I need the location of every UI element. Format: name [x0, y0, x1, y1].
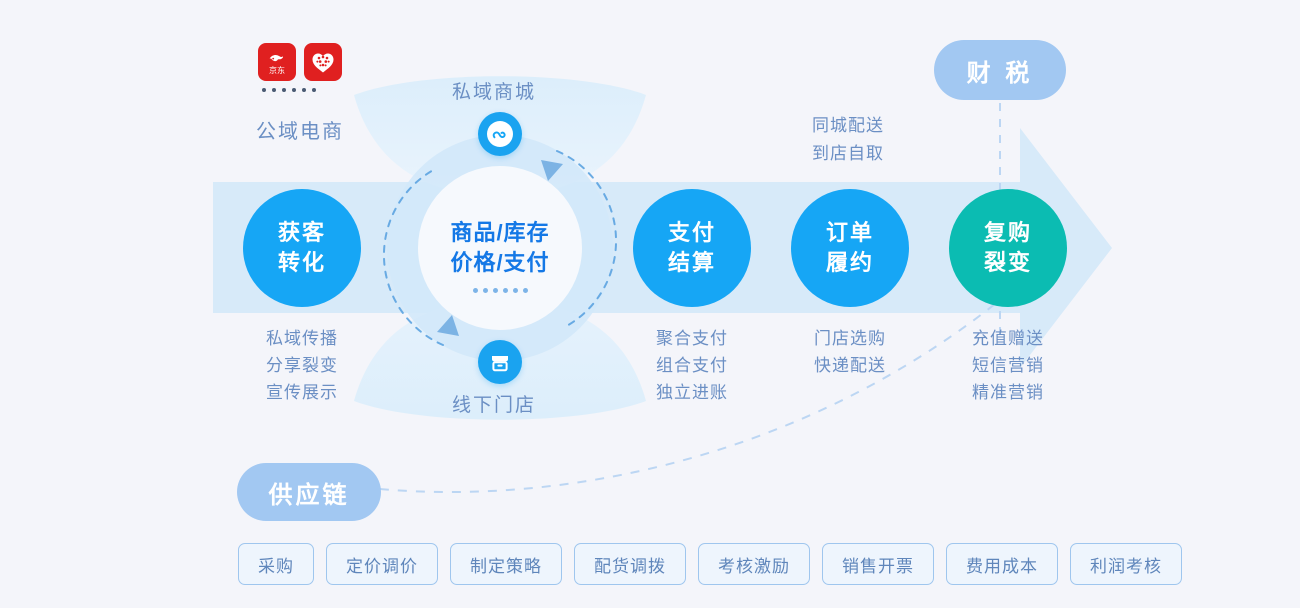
public-channel-title: 公域电商	[256, 115, 344, 144]
stage-node-payment[interactable]: 支付 结算	[633, 189, 751, 307]
hub-line-1: 商品/库存	[420, 218, 580, 248]
stage-acquisition-line-1: 获客	[278, 218, 326, 248]
chip-sales-invoice[interactable]: 销售开票	[822, 543, 934, 585]
chip-expense-cost[interactable]: 费用成本	[946, 543, 1058, 585]
stage-node-fulfilment[interactable]: 订单 履约	[791, 189, 909, 307]
pinduoduo-logo	[304, 43, 342, 81]
svg-text:京东: 京东	[269, 65, 285, 75]
public-channel-more-dots	[262, 88, 316, 92]
chip-profit-review[interactable]: 利润考核	[1070, 543, 1182, 585]
list-item: 充值赠送	[928, 325, 1088, 352]
background-graphics	[0, 0, 1300, 608]
pill-supply-chain[interactable]: 供应链	[237, 463, 381, 521]
delivery-note-line-1: 同城配送	[812, 112, 884, 140]
offline-channel-title: 线下门店	[452, 390, 536, 417]
stage-acquisition-items: 私域传播 分享裂变 宣传展示	[222, 325, 382, 406]
chip-procurement[interactable]: 采购	[238, 543, 314, 585]
list-item: 私域传播	[222, 325, 382, 352]
list-item: 门店选购	[770, 325, 930, 352]
storefront-icon	[478, 340, 522, 384]
stage-fulfilment-items: 门店选购 快递配送	[770, 325, 930, 379]
pill-finance[interactable]: 财 税	[934, 40, 1066, 100]
stage-repurchase-line-1: 复购	[984, 218, 1032, 248]
chip-allocation[interactable]: 配货调拨	[574, 543, 686, 585]
public-channel-logos: 京东	[258, 43, 342, 81]
stage-repurchase-line-2: 裂变	[984, 248, 1032, 278]
stage-fulfilment-line-1: 订单	[826, 218, 874, 248]
list-item: 独立进账	[612, 379, 772, 406]
list-item: 组合支付	[612, 352, 772, 379]
stage-repurchase-items: 充值赠送 短信营销 精准营销	[928, 325, 1088, 406]
wechat-miniprogram-icon	[478, 112, 522, 156]
stage-fulfilment-line-2: 履约	[826, 248, 874, 278]
list-item: 精准营销	[928, 379, 1088, 406]
stage-node-repurchase[interactable]: 复购 裂变	[949, 189, 1067, 307]
stage-node-acquisition[interactable]: 获客 转化	[243, 189, 361, 307]
jd-logo: 京东	[258, 43, 296, 81]
list-item: 快递配送	[770, 352, 930, 379]
list-item: 分享裂变	[222, 352, 382, 379]
hub-line-2: 价格/支付	[420, 248, 580, 278]
stage-payment-line-2: 结算	[668, 248, 716, 278]
chip-pricing[interactable]: 定价调价	[326, 543, 438, 585]
stage-acquisition-line-2: 转化	[278, 248, 326, 278]
hub-center-label: 商品/库存 价格/支付	[420, 218, 580, 293]
list-item: 宣传展示	[222, 379, 382, 406]
delivery-note-line-2: 到店自取	[812, 140, 884, 168]
delivery-note: 同城配送 到店自取	[812, 112, 884, 168]
list-item: 聚合支付	[612, 325, 772, 352]
stage-payment-items: 聚合支付 组合支付 独立进账	[612, 325, 772, 406]
chip-strategy[interactable]: 制定策略	[450, 543, 562, 585]
diagram-canvas: 京东 公域电商 私域商城	[0, 0, 1300, 608]
chip-incentive[interactable]: 考核激励	[698, 543, 810, 585]
hub-more-dots	[420, 288, 580, 293]
stage-payment-line-1: 支付	[668, 218, 716, 248]
capability-chip-row: 采购 定价调价 制定策略 配货调拨 考核激励 销售开票 费用成本 利润考核	[238, 543, 1182, 585]
private-channel-title: 私域商城	[452, 77, 536, 104]
list-item: 短信营销	[928, 352, 1088, 379]
